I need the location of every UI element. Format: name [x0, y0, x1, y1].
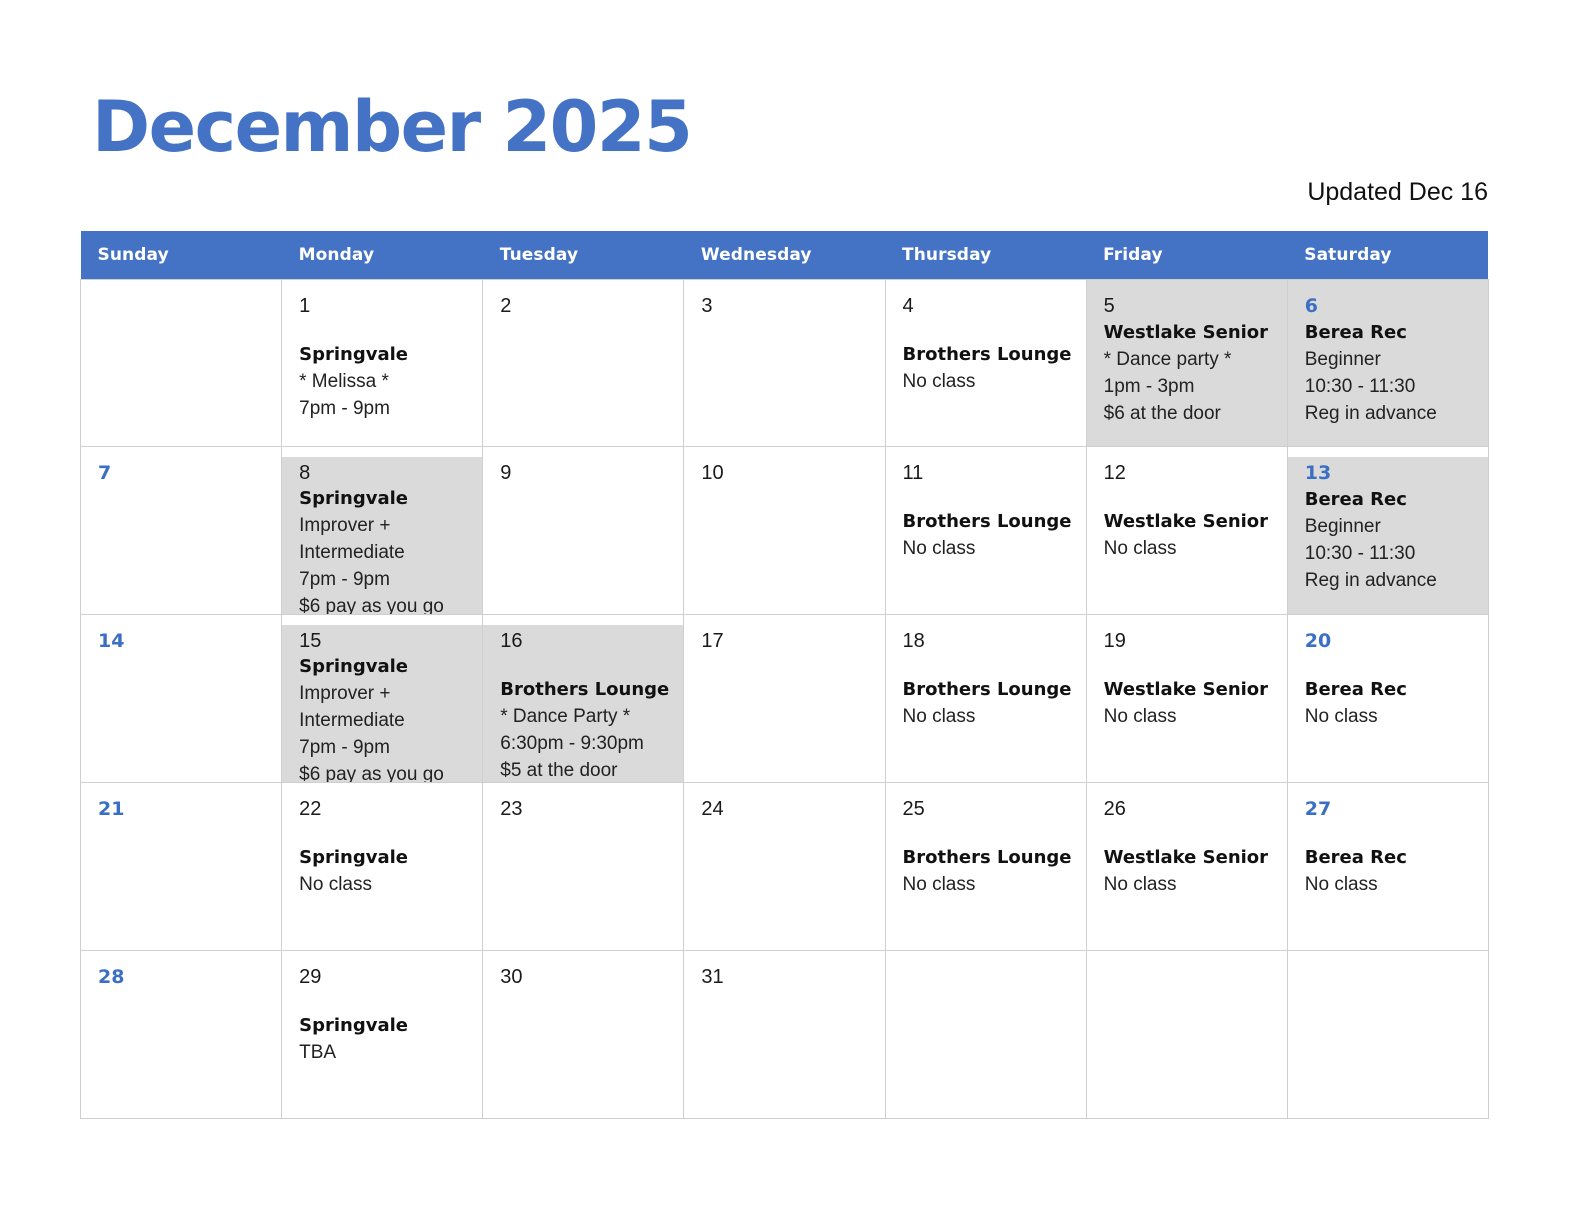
day-number: 29 — [299, 964, 472, 990]
day-cell-content — [81, 280, 281, 446]
event-venue: Brothers Lounge — [500, 676, 673, 703]
day-event: SpringvaleImprover +Intermediate7pm - 9p… — [299, 654, 472, 782]
day-cell-content — [1087, 951, 1287, 1118]
day-number: 17 — [701, 628, 874, 654]
event-detail: 10:30 - 11:30 — [1305, 373, 1478, 400]
event-venue: Westlake Senior — [1104, 844, 1277, 871]
day-cell-content: 14 — [81, 615, 281, 782]
day-number: 6 — [1305, 293, 1478, 319]
event-detail: 10:30 - 11:30 — [1305, 540, 1478, 567]
calendar-day-cell-13[interactable]: 13Berea RecBeginner10:30 - 11:30Reg in a… — [1287, 447, 1488, 615]
event-venue: Springvale — [299, 654, 472, 680]
event-venue: Brothers Lounge — [903, 341, 1076, 368]
day-number: 16 — [500, 628, 673, 654]
calendar-day-cell-25[interactable]: 25Brothers LoungeNo class — [885, 783, 1086, 951]
day-cell-content: 27Berea RecNo class — [1288, 783, 1488, 950]
event-detail: Reg in advance — [1305, 567, 1478, 594]
event-detail: Improver + — [299, 512, 472, 539]
day-cell-content: 16Brothers Lounge* Dance Party *6:30pm -… — [483, 625, 683, 782]
event-detail: Intermediate — [299, 539, 472, 566]
calendar-day-cell-26[interactable]: 26Westlake SeniorNo class — [1086, 783, 1287, 951]
calendar-day-cell-9[interactable]: 9 — [483, 447, 684, 615]
calendar-day-cell-2[interactable]: 2 — [483, 280, 684, 447]
calendar-day-cell-3[interactable]: 3 — [684, 280, 885, 447]
day-cell-spacer — [903, 654, 1076, 676]
calendar-day-cell-10[interactable]: 10 — [684, 447, 885, 615]
day-cell-content: 17 — [684, 615, 884, 782]
event-detail: TBA — [299, 1039, 472, 1066]
day-event: SpringvaleTBA — [299, 1012, 472, 1066]
day-number: 21 — [98, 796, 271, 822]
event-detail: $5 at the door — [500, 757, 673, 782]
day-cell-content: 5Westlake Senior* Dance party *1pm - 3pm… — [1087, 280, 1287, 446]
weekday-header-sunday: Sunday — [81, 231, 282, 280]
day-cell-content: 26Westlake SeniorNo class — [1087, 783, 1287, 950]
day-cell-content: 6Berea RecBeginner10:30 - 11:30Reg in ad… — [1288, 280, 1488, 446]
day-cell-content: 2 — [483, 280, 683, 446]
event-detail: No class — [903, 368, 1076, 395]
event-detail: No class — [1104, 535, 1277, 562]
event-detail: 6:30pm - 9:30pm — [500, 730, 673, 757]
calendar-day-cell-8[interactable]: 8SpringvaleImprover +Intermediate7pm - 9… — [282, 447, 483, 615]
weekday-header-thursday: Thursday — [885, 231, 1086, 280]
day-number: 14 — [98, 628, 271, 654]
day-number: 3 — [701, 293, 874, 319]
day-cell-content: 20Berea RecNo class — [1288, 615, 1488, 782]
day-event: Berea RecNo class — [1305, 844, 1478, 898]
calendar-table: Sunday Monday Tuesday Wednesday Thursday… — [80, 231, 1489, 1119]
calendar-page: December 2025 Updated Dec 16 Sunday Mond… — [0, 0, 1584, 1224]
weekday-header-tuesday: Tuesday — [483, 231, 684, 280]
day-cell-spacer — [500, 654, 673, 676]
event-detail: Beginner — [1305, 513, 1478, 540]
day-cell-content: 22SpringvaleNo class — [282, 783, 482, 950]
day-cell-content: 23 — [483, 783, 683, 950]
day-cell-content: 8SpringvaleImprover +Intermediate7pm - 9… — [282, 457, 482, 614]
calendar-day-cell-18[interactable]: 18Brothers LoungeNo class — [885, 615, 1086, 783]
day-cell-content: 12Westlake SeniorNo class — [1087, 447, 1287, 614]
calendar-day-cell-24[interactable]: 24 — [684, 783, 885, 951]
day-number: 9 — [500, 460, 673, 486]
event-venue: Berea Rec — [1305, 319, 1478, 346]
calendar-day-cell-14[interactable]: 14 — [81, 615, 282, 783]
event-detail: No class — [1305, 871, 1478, 898]
event-detail: 7pm - 9pm — [299, 734, 472, 761]
day-cell-spacer — [1104, 822, 1277, 844]
updated-label: Updated Dec 16 — [1307, 178, 1488, 207]
day-number: 30 — [500, 964, 673, 990]
calendar-day-cell-11[interactable]: 11Brothers LoungeNo class — [885, 447, 1086, 615]
day-number: 1 — [299, 293, 472, 319]
day-cell-content — [1288, 951, 1488, 1118]
calendar-day-cell-1[interactable]: 1Springvale* Melissa *7pm - 9pm — [282, 280, 483, 447]
day-cell-content: 13Berea RecBeginner10:30 - 11:30Reg in a… — [1288, 457, 1488, 614]
day-cell-spacer — [299, 990, 472, 1012]
event-detail: Improver + — [299, 680, 472, 707]
day-event: Westlake SeniorNo class — [1104, 508, 1277, 562]
event-detail: 7pm - 9pm — [299, 395, 472, 422]
day-cell-content: 29SpringvaleTBA — [282, 951, 482, 1118]
day-event: Brothers LoungeNo class — [903, 676, 1076, 730]
day-cell-content: 24 — [684, 783, 884, 950]
event-detail: $6 at the door — [1104, 400, 1277, 427]
day-cell-content: 11Brothers LoungeNo class — [886, 447, 1086, 614]
day-event: SpringvaleImprover +Intermediate7pm - 9p… — [299, 486, 472, 614]
calendar-week-row: 2122SpringvaleNo class232425Brothers Lou… — [81, 783, 1489, 951]
calendar-day-cell-6[interactable]: 6Berea RecBeginner10:30 - 11:30Reg in ad… — [1287, 280, 1488, 447]
weekday-header-monday: Monday — [282, 231, 483, 280]
event-venue: Westlake Senior — [1104, 508, 1277, 535]
day-event: Westlake Senior* Dance party *1pm - 3pm$… — [1104, 319, 1277, 427]
day-cell-spacer — [903, 319, 1076, 341]
day-number: 19 — [1104, 628, 1277, 654]
day-number: 25 — [903, 796, 1076, 822]
day-cell-spacer — [903, 486, 1076, 508]
calendar-day-cell-16[interactable]: 16Brothers Lounge* Dance Party *6:30pm -… — [483, 615, 684, 783]
day-event: Berea RecNo class — [1305, 676, 1478, 730]
day-number: 28 — [98, 964, 271, 990]
day-cell-content: 15SpringvaleImprover +Intermediate7pm - … — [282, 625, 482, 782]
calendar-day-cell-4[interactable]: 4Brothers LoungeNo class — [885, 280, 1086, 447]
day-number: 11 — [903, 460, 1076, 486]
day-number: 4 — [903, 293, 1076, 319]
event-detail: No class — [299, 871, 472, 898]
day-number: 26 — [1104, 796, 1277, 822]
event-detail: 7pm - 9pm — [299, 566, 472, 593]
weekday-header-saturday: Saturday — [1287, 231, 1488, 280]
event-detail: $6 pay as you go — [299, 593, 472, 614]
calendar-day-cell-5[interactable]: 5Westlake Senior* Dance party *1pm - 3pm… — [1086, 280, 1287, 447]
day-number: 24 — [701, 796, 874, 822]
calendar-week-row: 2829SpringvaleTBA3031 — [81, 951, 1489, 1119]
day-event: Brothers LoungeNo class — [903, 844, 1076, 898]
event-detail: * Dance party * — [1104, 346, 1277, 373]
day-cell-content: 18Brothers LoungeNo class — [886, 615, 1086, 782]
day-cell-content: 3 — [684, 280, 884, 446]
event-detail: * Dance Party * — [500, 703, 673, 730]
calendar-day-cell-12[interactable]: 12Westlake SeniorNo class — [1086, 447, 1287, 615]
day-cell-spacer — [903, 822, 1076, 844]
event-venue: Springvale — [299, 844, 472, 871]
day-cell-content: 4Brothers LoungeNo class — [886, 280, 1086, 446]
event-detail: $6 pay as you go — [299, 761, 472, 782]
event-venue: Westlake Senior — [1104, 676, 1277, 703]
calendar-week-row: 1Springvale* Melissa *7pm - 9pm234Brothe… — [81, 280, 1489, 447]
day-event: Westlake SeniorNo class — [1104, 676, 1277, 730]
calendar-day-cell-empty — [1086, 951, 1287, 1119]
event-venue: Westlake Senior — [1104, 319, 1277, 346]
event-venue: Brothers Lounge — [903, 508, 1076, 535]
day-cell-content: 31 — [684, 951, 884, 1118]
calendar-day-cell-19[interactable]: 19Westlake SeniorNo class — [1086, 615, 1287, 783]
calendar-day-cell-27[interactable]: 27Berea RecNo class — [1287, 783, 1488, 951]
day-number: 8 — [299, 460, 472, 486]
day-event: Brothers LoungeNo class — [903, 341, 1076, 395]
day-number: 15 — [299, 628, 472, 654]
day-number: 10 — [701, 460, 874, 486]
day-number: 12 — [1104, 460, 1277, 486]
day-event: Berea RecBeginner10:30 - 11:30Reg in adv… — [1305, 486, 1478, 594]
event-detail: 1pm - 3pm — [1104, 373, 1277, 400]
day-number: 31 — [701, 964, 874, 990]
day-number: 27 — [1305, 796, 1478, 822]
event-detail: Intermediate — [299, 707, 472, 734]
calendar-week-row: 78SpringvaleImprover +Intermediate7pm - … — [81, 447, 1489, 615]
weekday-header-friday: Friday — [1086, 231, 1287, 280]
calendar-day-cell-29[interactable]: 29SpringvaleTBA — [282, 951, 483, 1119]
event-venue: Berea Rec — [1305, 844, 1478, 871]
weekday-header-wednesday: Wednesday — [684, 231, 885, 280]
calendar-day-cell-31[interactable]: 31 — [684, 951, 885, 1119]
day-cell-spacer — [1104, 486, 1277, 508]
day-number: 2 — [500, 293, 673, 319]
event-venue: Brothers Lounge — [903, 844, 1076, 871]
calendar-day-cell-17[interactable]: 17 — [684, 615, 885, 783]
day-event: Berea RecBeginner10:30 - 11:30Reg in adv… — [1305, 319, 1478, 427]
day-cell-spacer — [1305, 654, 1478, 676]
calendar-day-cell-22[interactable]: 22SpringvaleNo class — [282, 783, 483, 951]
day-cell-content: 25Brothers LoungeNo class — [886, 783, 1086, 950]
event-venue: Brothers Lounge — [903, 676, 1076, 703]
day-cell-content: 28 — [81, 951, 281, 1118]
day-cell-spacer — [1104, 654, 1277, 676]
event-detail: No class — [903, 703, 1076, 730]
calendar-day-cell-empty — [1287, 951, 1488, 1119]
event-detail: * Melissa * — [299, 368, 472, 395]
calendar-day-cell-15[interactable]: 15SpringvaleImprover +Intermediate7pm - … — [282, 615, 483, 783]
event-venue: Springvale — [299, 486, 472, 512]
day-event: SpringvaleNo class — [299, 844, 472, 898]
event-venue: Berea Rec — [1305, 676, 1478, 703]
day-cell-content: 30 — [483, 951, 683, 1118]
calendar-day-cell-empty — [885, 951, 1086, 1119]
calendar-day-cell-23[interactable]: 23 — [483, 783, 684, 951]
day-cell-content: 9 — [483, 447, 683, 614]
day-number: 13 — [1305, 460, 1478, 486]
event-venue: Berea Rec — [1305, 486, 1478, 513]
calendar-day-cell-28[interactable]: 28 — [81, 951, 282, 1119]
calendar-day-cell-7[interactable]: 7 — [81, 447, 282, 615]
day-event: Brothers Lounge* Dance Party *6:30pm - 9… — [500, 676, 673, 782]
calendar-body: 1Springvale* Melissa *7pm - 9pm234Brothe… — [81, 280, 1489, 1119]
day-cell-spacer — [299, 319, 472, 341]
day-number: 7 — [98, 460, 271, 486]
calendar-day-cell-20[interactable]: 20Berea RecNo class — [1287, 615, 1488, 783]
day-cell-content: 1Springvale* Melissa *7pm - 9pm — [282, 280, 482, 446]
event-detail: No class — [1305, 703, 1478, 730]
day-cell-content: 7 — [81, 447, 281, 614]
day-cell-spacer — [1305, 822, 1478, 844]
day-cell-content: 21 — [81, 783, 281, 950]
day-cell-content — [886, 951, 1086, 1118]
day-event: Brothers LoungeNo class — [903, 508, 1076, 562]
event-detail: No class — [1104, 871, 1277, 898]
day-number: 18 — [903, 628, 1076, 654]
event-detail: No class — [903, 535, 1076, 562]
event-detail: Beginner — [1305, 346, 1478, 373]
day-event: Westlake SeniorNo class — [1104, 844, 1277, 898]
event-detail: No class — [1104, 703, 1277, 730]
event-detail: Reg in advance — [1305, 400, 1478, 427]
page-title: December 2025 — [92, 92, 691, 162]
calendar-header-row: Sunday Monday Tuesday Wednesday Thursday… — [81, 231, 1489, 280]
calendar-day-cell-21[interactable]: 21 — [81, 783, 282, 951]
day-cell-content: 10 — [684, 447, 884, 614]
day-cell-spacer — [299, 822, 472, 844]
day-cell-content: 19Westlake SeniorNo class — [1087, 615, 1287, 782]
event-venue: Springvale — [299, 341, 472, 368]
calendar-day-cell-30[interactable]: 30 — [483, 951, 684, 1119]
day-number: 5 — [1104, 293, 1277, 319]
day-number: 20 — [1305, 628, 1478, 654]
event-detail: No class — [903, 871, 1076, 898]
day-event: Springvale* Melissa *7pm - 9pm — [299, 341, 472, 422]
day-number: 23 — [500, 796, 673, 822]
event-venue: Springvale — [299, 1012, 472, 1039]
day-number: 22 — [299, 796, 472, 822]
calendar-week-row: 1415SpringvaleImprover +Intermediate7pm … — [81, 615, 1489, 783]
calendar-day-cell-empty — [81, 280, 282, 447]
